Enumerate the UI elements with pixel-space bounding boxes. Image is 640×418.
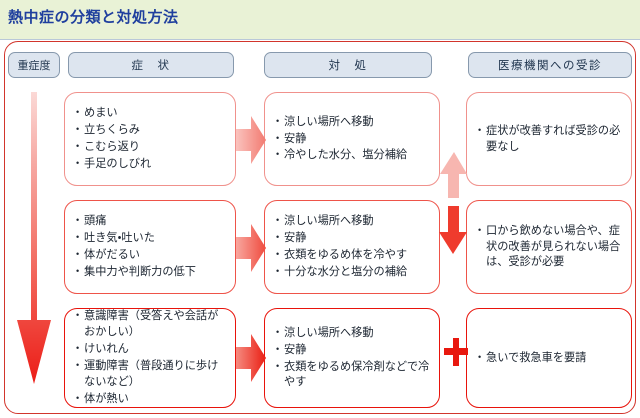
medical-up-arrow bbox=[440, 152, 467, 198]
header-treatment: 対 処 bbox=[264, 52, 432, 78]
list-item: 体がだるい bbox=[73, 247, 227, 263]
symptom-to-treatment-arrow-row3 bbox=[236, 330, 266, 386]
list-item: 涼しい場所へ移動 bbox=[273, 325, 431, 341]
medical-box-level3: 急いで救急車を要請 bbox=[466, 308, 632, 408]
list-item: 冷やした水分、塩分補給 bbox=[273, 147, 431, 163]
list-item: 運動障害（普段通りに歩けないなど） bbox=[73, 358, 227, 390]
symptoms-list-level1: めまい 立ちくらみ こむら返り 手足のしびれ bbox=[73, 105, 227, 173]
list-item: 体が熱い bbox=[73, 391, 227, 407]
symptoms-box-level1: めまい 立ちくらみ こむら返り 手足のしびれ bbox=[64, 92, 236, 186]
symptoms-box-level2: 頭痛 吐き気・吐いた 体がだるい 集中力や判断力の低下 bbox=[64, 200, 236, 294]
list-item: こむら返り bbox=[73, 139, 227, 155]
list-item: 口から飲めない場合や、症状の改善が見られない場合は、受診が必要 bbox=[475, 223, 623, 271]
medical-down-arrow bbox=[439, 206, 467, 254]
treatment-box-level1: 涼しい場所へ移動 安静 冷やした水分、塩分補給 bbox=[264, 92, 440, 186]
list-item: 手足のしびれ bbox=[73, 156, 227, 172]
list-item: 十分な水分と塩分の補給 bbox=[273, 264, 431, 280]
list-item: 意識障害（受答えや会話がおかしい） bbox=[73, 308, 227, 340]
list-item: めまい bbox=[73, 105, 227, 121]
list-item: 症状が改善すれば受診の必要なし bbox=[475, 123, 623, 155]
treatment-list-level1: 涼しい場所へ移動 安静 冷やした水分、塩分補給 bbox=[273, 114, 431, 165]
list-item: 集中力や判断力の低下 bbox=[73, 264, 227, 280]
medical-box-level1: 症状が改善すれば受診の必要なし bbox=[466, 92, 632, 186]
severity-down-arrow bbox=[12, 92, 56, 394]
treatment-list-level2: 涼しい場所へ移動 安静 衣類をゆるめ体を冷やす 十分な水分と塩分の補給 bbox=[273, 213, 431, 281]
header-symptoms: 症 状 bbox=[68, 52, 234, 78]
list-item: 衣類をゆるめ保冷剤などで冷やす bbox=[273, 359, 431, 391]
symptoms-list-level2: 頭痛 吐き気・吐いた 体がだるい 集中力や判断力の低下 bbox=[73, 213, 227, 281]
page-title: 熱中症の分類と対処方法 bbox=[8, 6, 179, 27]
list-item: 立ちくらみ bbox=[73, 122, 227, 138]
list-item: 安静 bbox=[273, 230, 431, 246]
medical-list-level1: 症状が改善すれば受診の必要なし bbox=[475, 123, 623, 156]
list-item: 頭痛 bbox=[73, 213, 227, 229]
medical-list-level3: 急いで救急車を要請 bbox=[475, 350, 623, 367]
list-item: 安静 bbox=[273, 131, 431, 147]
medical-updown-arrow-group bbox=[438, 152, 470, 256]
medical-list-level2: 口から飲めない場合や、症状の改善が見られない場合は、受診が必要 bbox=[475, 223, 623, 272]
treatment-box-level2: 涼しい場所へ移動 安静 衣類をゆるめ体を冷やす 十分な水分と塩分の補給 bbox=[264, 200, 440, 294]
list-item: 涼しい場所へ移動 bbox=[273, 213, 431, 229]
list-item: 安静 bbox=[273, 342, 431, 358]
list-item: 涼しい場所へ移動 bbox=[273, 114, 431, 130]
symptoms-list-level3: 意識障害（受答えや会話がおかしい） けいれん 運動障害（普段通りに歩けないなど）… bbox=[73, 308, 227, 407]
title-band: 熱中症の分類と対処方法 bbox=[0, 0, 640, 40]
list-item: 衣類をゆるめ体を冷やす bbox=[273, 247, 431, 263]
symptom-to-treatment-arrow-row2 bbox=[236, 220, 266, 276]
symptoms-box-level3: 意識障害（受答えや会話がおかしい） けいれん 運動障害（普段通りに歩けないなど）… bbox=[64, 308, 236, 408]
header-severity: 重症度 bbox=[8, 52, 60, 78]
treatment-list-level3: 涼しい場所へ移動 安静 衣類をゆるめ保冷剤などで冷やす bbox=[273, 325, 431, 392]
red-cross-icon bbox=[444, 338, 468, 366]
heatstroke-classification-infographic: 熱中症の分類と対処方法 重症度 症 状 対 処 医療機関への受診 めまい 立ちく… bbox=[0, 0, 640, 418]
list-item: 急いで救急車を要請 bbox=[475, 350, 623, 366]
list-item: けいれん bbox=[73, 341, 227, 357]
treatment-box-level3: 涼しい場所へ移動 安静 衣類をゆるめ保冷剤などで冷やす bbox=[264, 308, 440, 408]
symptom-to-treatment-arrow-row1 bbox=[236, 112, 266, 168]
list-item: 吐き気・吐いた bbox=[73, 230, 227, 246]
medical-box-level2: 口から飲めない場合や、症状の改善が見られない場合は、受診が必要 bbox=[466, 200, 632, 294]
header-medical-consultation: 医療機関への受診 bbox=[468, 52, 632, 78]
